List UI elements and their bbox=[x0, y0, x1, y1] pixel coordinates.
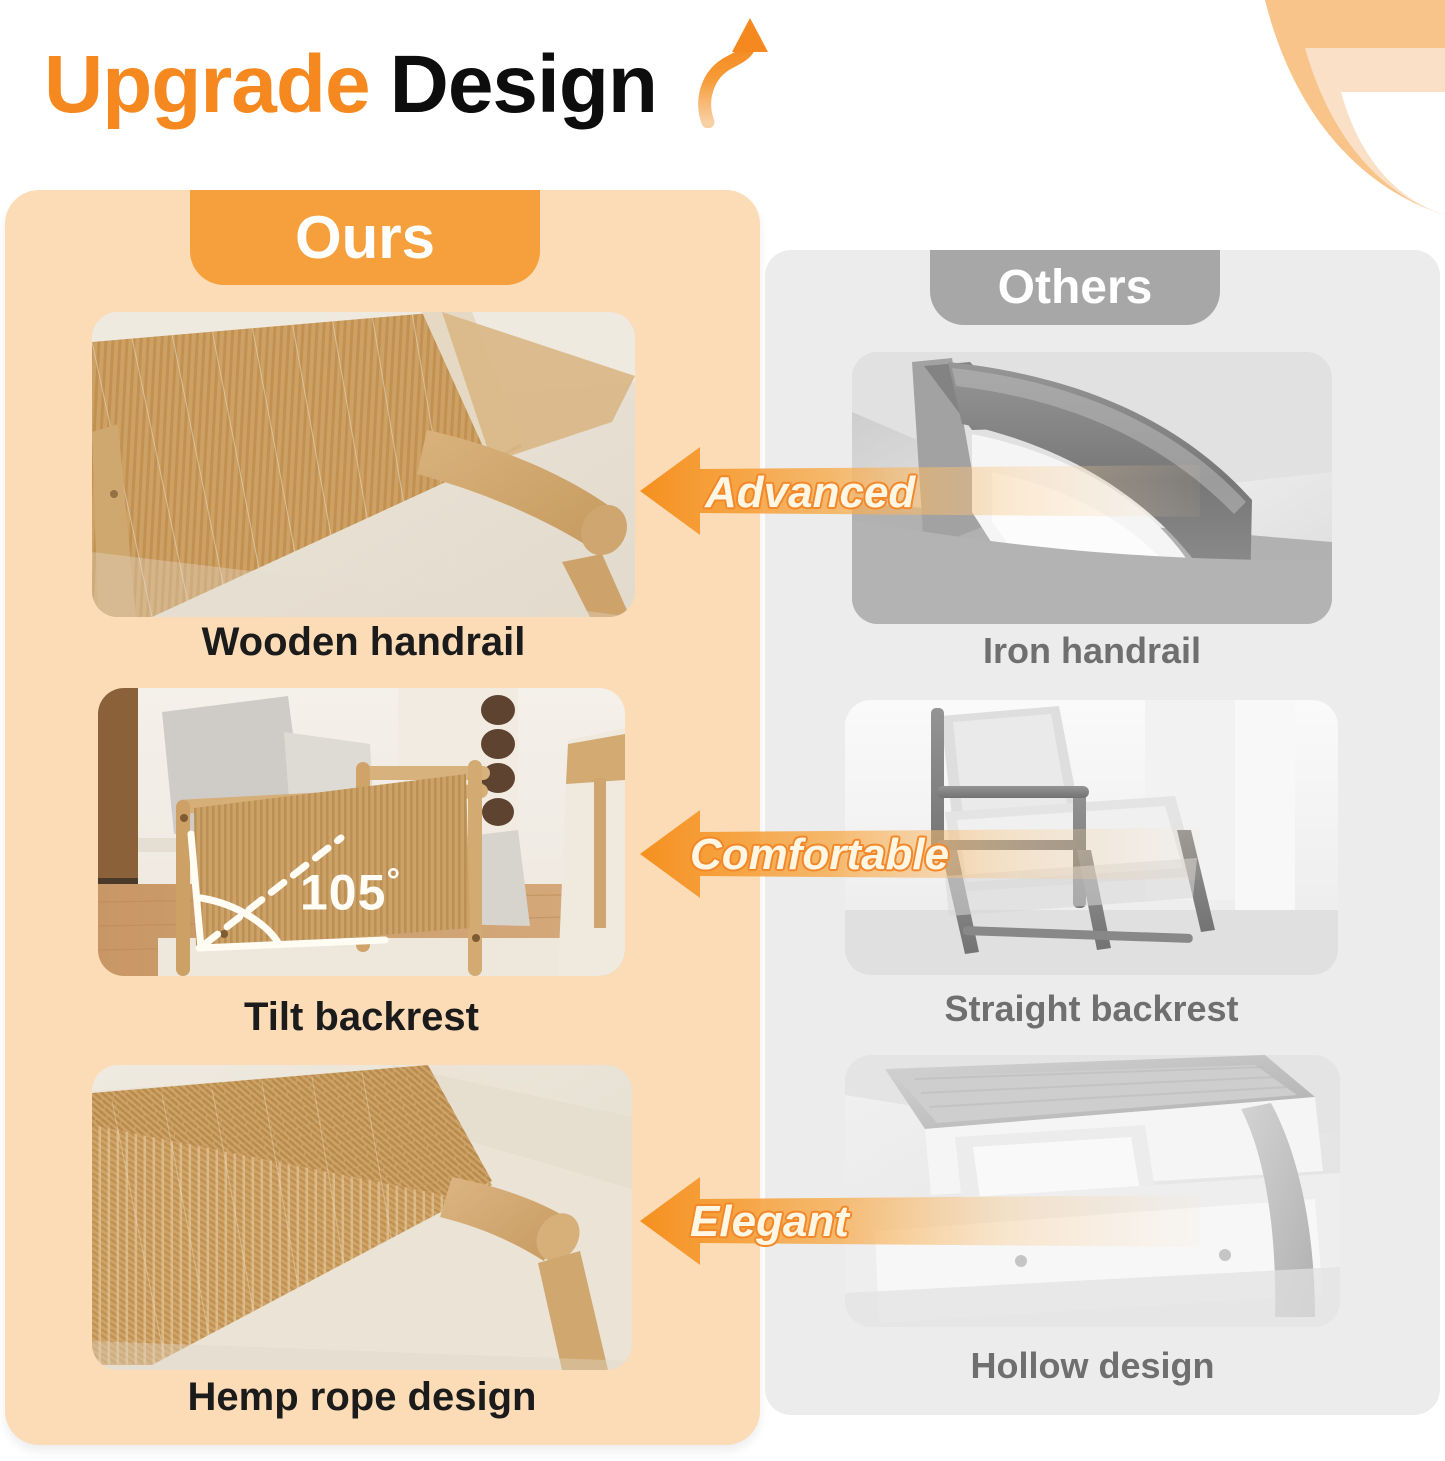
caption-hollow-design: Hollow design bbox=[845, 1345, 1340, 1387]
title-design: Design bbox=[390, 44, 657, 126]
badge-others-label: Others bbox=[998, 260, 1153, 315]
hemp-rope-design-photo[interactable] bbox=[92, 1065, 632, 1370]
arrow-label-advanced: Advanced bbox=[705, 468, 915, 518]
page-title: Upgrade Design bbox=[44, 44, 657, 126]
caption-wooden-handrail: Wooden handrail bbox=[92, 620, 635, 665]
arrow-label-elegant: Elegant bbox=[690, 1197, 849, 1247]
title-upgrade: Upgrade bbox=[44, 44, 370, 126]
badge-others: Others bbox=[930, 250, 1220, 325]
badge-ours-label: Ours bbox=[295, 203, 435, 272]
caption-hemp-rope-design: Hemp rope design bbox=[92, 1375, 632, 1420]
curved-up-arrow-icon bbox=[690, 18, 780, 128]
badge-ours: Ours bbox=[190, 190, 540, 285]
corner-swoosh-decoration bbox=[1145, 0, 1445, 215]
angle-value: 105° bbox=[300, 862, 401, 922]
wooden-handrail-photo[interactable] bbox=[92, 312, 635, 617]
caption-straight-backrest: Straight backrest bbox=[845, 988, 1338, 1030]
caption-iron-handrail: Iron handrail bbox=[852, 630, 1332, 672]
caption-tilt-backrest: Tilt backrest bbox=[98, 995, 625, 1040]
arrow-label-comfortable: Comfortable bbox=[690, 830, 949, 880]
